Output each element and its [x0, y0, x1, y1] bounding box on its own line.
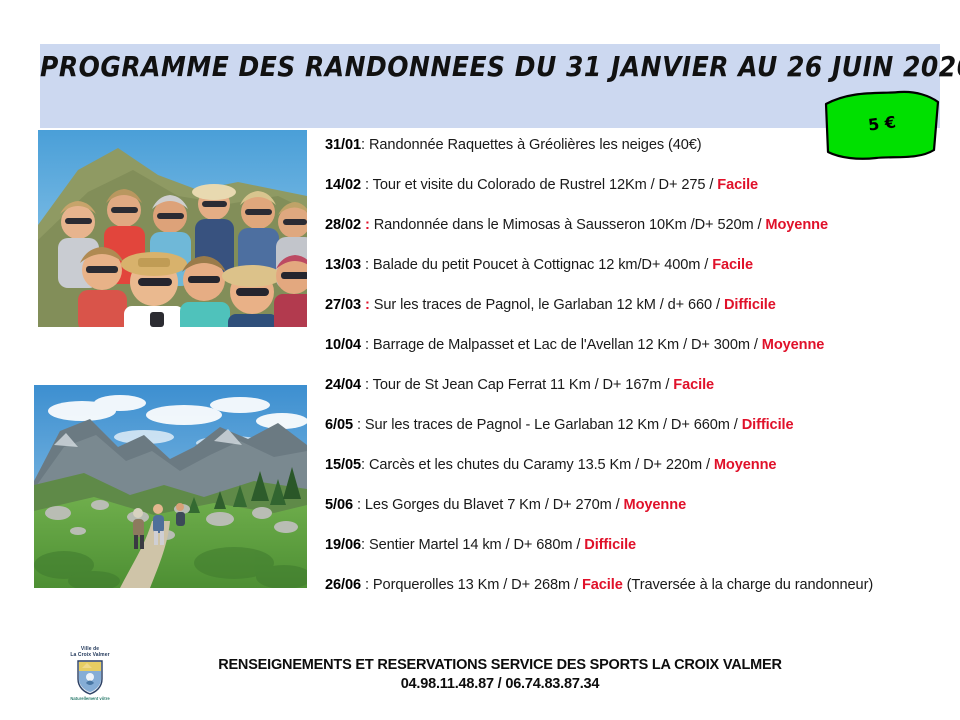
- item-difficulty: Facile: [673, 377, 714, 393]
- item-date: 27/03: [325, 297, 361, 313]
- logo-line-2: La Croix Valmer: [62, 652, 118, 658]
- group-photo: [38, 130, 307, 327]
- footer-line-1: RENSEIGNEMENTS ET RESERVATIONS SERVICE D…: [150, 656, 850, 675]
- item-difficulty: Facile: [582, 577, 623, 593]
- item-separator: :: [361, 257, 369, 273]
- list-item: 28/02 : Randonnée dans le Mimosas à Saus…: [325, 216, 900, 235]
- item-difficulty: Moyenne: [714, 457, 777, 473]
- list-item: 19/06: Sentier Martel 14 km / D+ 680m / …: [325, 536, 900, 555]
- list-item: 31/01: Randonnée Raquettes à Gréolières …: [325, 136, 900, 155]
- item-difficulty: Facile: [712, 257, 753, 273]
- item-description: Porquerolles 13 Km / D+ 268m /: [373, 577, 582, 593]
- list-item: 10/04 : Barrage de Malpasset et Lac de l…: [325, 336, 900, 355]
- item-difficulty: Moyenne: [765, 217, 828, 233]
- item-date: 31/01: [325, 137, 361, 153]
- page-title: PROGRAMME DES RANDONNEES DU 31 JANVIER A…: [40, 50, 940, 82]
- item-description: Barrage de Malpasset et Lac de l'Avellan…: [373, 337, 762, 353]
- item-difficulty: Difficile: [584, 537, 636, 553]
- item-separator: :: [361, 457, 365, 473]
- list-item: 13/03 : Balade du petit Poucet à Cottign…: [325, 256, 900, 275]
- item-note: (Traversée à la charge du randonneur): [623, 577, 873, 593]
- item-separator: :: [361, 217, 370, 233]
- item-description: Balade du petit Poucet à Cottignac 12 km…: [373, 257, 712, 273]
- town-crest-icon: [76, 659, 104, 695]
- item-date: 19/06: [325, 537, 361, 553]
- item-date: 14/02: [325, 177, 361, 193]
- item-separator: :: [361, 137, 365, 153]
- footer-line-2: 04.98.11.48.87 / 06.74.83.87.34: [150, 675, 850, 694]
- item-separator: :: [361, 377, 369, 393]
- item-separator: :: [361, 537, 365, 553]
- item-description: Tour et visite du Colorado de Rustrel 12…: [373, 177, 718, 193]
- list-item: 14/02 : Tour et visite du Colorado de Ru…: [325, 176, 900, 195]
- item-difficulty: Facile: [717, 177, 758, 193]
- item-description: Sur les traces de Pagnol - Le Garlaban 1…: [365, 417, 742, 433]
- list-item: 24/04 : Tour de St Jean Cap Ferrat 11 Km…: [325, 376, 900, 395]
- item-date: 6/05: [325, 417, 353, 433]
- item-description: Tour de St Jean Cap Ferrat 11 Km / D+ 16…: [373, 377, 674, 393]
- item-date: 10/04: [325, 337, 361, 353]
- item-separator: :: [361, 577, 369, 593]
- item-description: Les Gorges du Blavet 7 Km / D+ 270m /: [365, 497, 624, 513]
- program-list: 31/01: Randonnée Raquettes à Gréolières …: [325, 136, 900, 595]
- item-separator: :: [361, 177, 369, 193]
- item-separator: :: [361, 337, 369, 353]
- footer-contact: RENSEIGNEMENTS ET RESERVATIONS SERVICE D…: [150, 656, 850, 694]
- item-description: Randonnée dans le Mimosas à Sausseron 10…: [374, 217, 766, 233]
- item-date: 13/03: [325, 257, 361, 273]
- item-date: 26/06: [325, 577, 361, 593]
- list-item: 26/06 : Porquerolles 13 Km / D+ 268m / F…: [325, 576, 900, 595]
- item-separator: :: [361, 297, 370, 313]
- item-description: Sentier Martel 14 km / D+ 680m /: [369, 537, 584, 553]
- item-difficulty: Moyenne: [624, 497, 687, 513]
- trail-photo: [34, 385, 307, 588]
- list-item: 6/05 : Sur les traces de Pagnol - Le Gar…: [325, 416, 900, 435]
- item-difficulty: Moyenne: [762, 337, 825, 353]
- item-description: Carcès et les chutes du Caramy 13.5 Km /…: [369, 457, 714, 473]
- item-date: 28/02: [325, 217, 361, 233]
- item-date: 5/06: [325, 497, 353, 513]
- item-separator: :: [353, 417, 361, 433]
- item-difficulty: Difficile: [742, 417, 794, 433]
- item-separator: :: [353, 497, 361, 513]
- item-description: Sur les traces de Pagnol, le Garlaban 12…: [374, 297, 724, 313]
- list-item: 5/06 : Les Gorges du Blavet 7 Km / D+ 27…: [325, 496, 900, 515]
- item-date: 24/04: [325, 377, 361, 393]
- item-description: Randonnée Raquettes à Gréolières les nei…: [369, 137, 702, 153]
- logo-motto: Naturellement vôtre: [62, 696, 118, 702]
- town-logo: Ville de La Croix Valmer Naturellement v…: [62, 646, 118, 708]
- list-item: 27/03 : Sur les traces de Pagnol, le Gar…: [325, 296, 900, 315]
- item-difficulty: Difficile: [724, 297, 776, 313]
- item-date: 15/05: [325, 457, 361, 473]
- list-item: 15/05: Carcès et les chutes du Caramy 13…: [325, 456, 900, 475]
